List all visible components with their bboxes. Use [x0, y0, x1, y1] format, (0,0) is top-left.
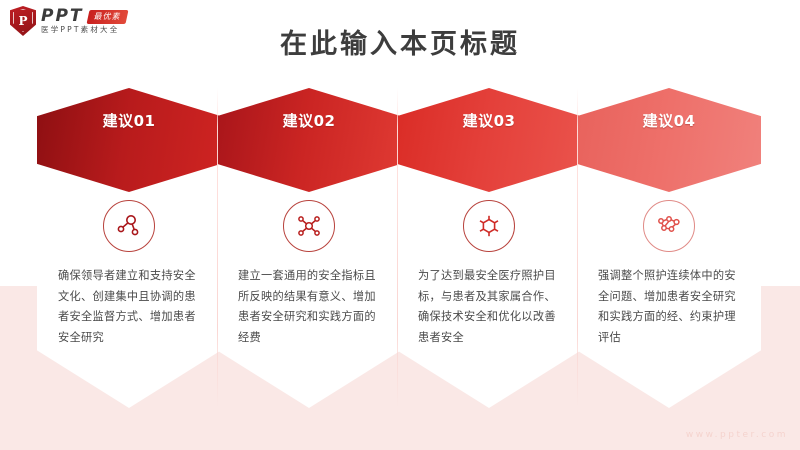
- panel-group: 建议01 确保领导者建立和支持安全文化、创建集中且协调的患者安全监督方式、增加患…: [37, 88, 767, 408]
- network-hub-icon: [283, 200, 335, 252]
- panel-description: 建立一套通用的安全指标且所反映的结果有意义、增加患者安全研究和实践方面的经费: [238, 266, 380, 349]
- panel-label: 建议01: [37, 110, 221, 131]
- panel-description: 确保领导者建立和支持安全文化、创建集中且协调的患者安全监督方式、增加患者安全研究: [58, 266, 200, 349]
- panel-03[interactable]: 建议03 为了达到最安全医疗照护目标，与患者及其家属合作、确保技术安全和优化以改…: [397, 88, 581, 408]
- panel-01[interactable]: 建议01 确保领导者建立和支持安全文化、创建集中且协调的患者安全监督方式、增加患…: [37, 88, 221, 408]
- virus-icon: [463, 200, 515, 252]
- panel-divider: [577, 88, 578, 408]
- panel-label: 建议02: [217, 110, 401, 131]
- page-title: 在此输入本页标题: [0, 22, 800, 61]
- molecule-icon: [643, 200, 695, 252]
- panel-description: 强调整个照护连续体中的安全问题、增加患者安全研究和实践方面的经、约束护理评估: [598, 266, 740, 349]
- panel-divider: [217, 88, 218, 408]
- panel-label: 建议03: [397, 110, 581, 131]
- panel-label: 建议04: [577, 110, 761, 131]
- panel-divider: [397, 88, 398, 408]
- slide-canvas: P PPT 最优素 医学PPT素材大全 在此输入本页标题 建议01: [0, 0, 800, 450]
- share-nodes-icon: [103, 200, 155, 252]
- panel-02[interactable]: 建议02 建立一套通用的安全指标且所反映的结果有意义、增加患者安全研究和实践方面…: [217, 88, 401, 408]
- site-watermark: www.ppter.com: [686, 430, 788, 440]
- panel-04[interactable]: 建议04 强调整个照护连续体中的安全问题、增加患者安全研究和实践方面的经、约束护…: [577, 88, 761, 408]
- panel-description: 为了达到最安全医疗照护目标，与患者及其家属合作、确保技术安全和优化以改善患者安全: [418, 266, 560, 349]
